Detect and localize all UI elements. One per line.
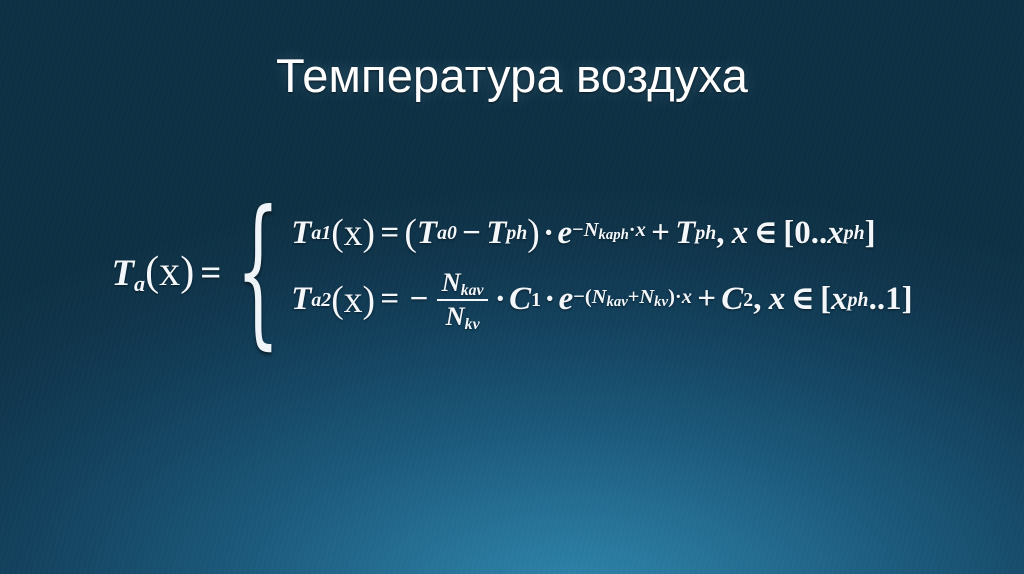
case2-negative: − bbox=[404, 281, 433, 318]
case1-exp-dot: · bbox=[629, 219, 636, 241]
case2-exp-N1: N bbox=[592, 286, 607, 308]
case2-frac-den-symbol: N bbox=[446, 301, 465, 331]
case2-e: e bbox=[559, 281, 574, 318]
case2-exp-x: x bbox=[682, 286, 692, 308]
case1-interval-dots: .. bbox=[811, 215, 828, 252]
case2-exponent: −(Nkav+Nkv)·x bbox=[573, 297, 692, 302]
lhs-subscript: a bbox=[134, 271, 145, 296]
case1-interval-high: x bbox=[827, 215, 844, 252]
case2-constant2: C bbox=[721, 281, 743, 318]
case1-equals: = bbox=[375, 215, 404, 252]
lhs-argument: (x) bbox=[145, 248, 194, 295]
case1-comma: , bbox=[716, 215, 724, 252]
case2-interval-close: ] bbox=[902, 281, 913, 318]
case1-interval-low: 0 bbox=[794, 215, 811, 252]
cases-list: Ta1(x)=(Ta0−Tph)·e−Nkaph·x+Tph,x∈[0..xph… bbox=[291, 212, 912, 331]
case1-exp-x: x bbox=[636, 219, 646, 241]
case1-term3: T bbox=[675, 215, 695, 252]
case2-in-symbol: ∈ bbox=[785, 281, 820, 318]
lhs-function: T bbox=[111, 253, 134, 294]
case-air-before-phase-change: Ta1(x)=(Ta0−Tph)·e−Nkaph·x+Tph,x∈[0..xph… bbox=[291, 212, 912, 254]
case1-exp-N: N bbox=[584, 219, 599, 241]
case2-exp-close: ) bbox=[668, 286, 675, 308]
case1-plus: + bbox=[646, 215, 675, 252]
case2-exp-dot: · bbox=[675, 286, 682, 308]
case2-interval-open: [ bbox=[820, 281, 831, 318]
case2-argument: (x) bbox=[331, 279, 375, 321]
case2-fraction: NkavNkv bbox=[437, 268, 488, 331]
case2-frac-num-symbol: N bbox=[442, 267, 461, 297]
case2-interval-high: 1 bbox=[885, 281, 902, 318]
case1-exponent: −Nkaph·x bbox=[572, 230, 646, 235]
case2-dot1: · bbox=[491, 281, 509, 318]
case2-exp-N2-sub: kv bbox=[654, 294, 668, 310]
case1-exp-minus: − bbox=[572, 219, 584, 241]
case1-exp-N-sub: kaph bbox=[599, 228, 629, 244]
case2-plus: + bbox=[692, 281, 721, 318]
case-air-after-phase-change: Ta2(x)=−NkavNkv·C1·e−(Nkav+Nkv)·x+C2,x∈[… bbox=[291, 264, 912, 331]
case2-variable: x bbox=[761, 281, 785, 318]
case2-dot2: · bbox=[541, 281, 559, 318]
case2-comma: , bbox=[753, 281, 761, 318]
case1-in-symbol: ∈ bbox=[748, 215, 783, 252]
case2-constant1: C bbox=[509, 281, 531, 318]
case1-interval-close: ] bbox=[865, 215, 876, 252]
case2-exp-plus: + bbox=[628, 286, 640, 308]
slide-canvas: Температура воздуха Ta(x)= { Ta1(x)=(Ta0… bbox=[0, 0, 1024, 574]
case2-exp-minus: − bbox=[573, 286, 585, 308]
case2-frac-num-sub: kav bbox=[461, 282, 484, 299]
case1-argument: (x) bbox=[331, 212, 375, 254]
formula-lhs: Ta(x)= bbox=[111, 247, 231, 296]
case2-exp-open: ( bbox=[585, 286, 592, 308]
case2-fraction-denominator: Nkv bbox=[441, 301, 485, 332]
case1-close-paren: ) bbox=[527, 212, 540, 254]
case2-fraction-numerator: Nkav bbox=[437, 268, 488, 299]
case1-interval-open: [ bbox=[783, 215, 794, 252]
case1-term1: T bbox=[417, 215, 437, 252]
slide-title: Температура воздуха bbox=[0, 48, 1024, 103]
case1-dot: · bbox=[540, 215, 558, 252]
case1-term2: T bbox=[486, 215, 506, 252]
case2-interval-dots: .. bbox=[869, 281, 886, 318]
case1-e: e bbox=[557, 215, 572, 252]
case2-equals: = bbox=[375, 281, 404, 318]
case1-open-paren: ( bbox=[404, 212, 417, 254]
case2-interval-low: x bbox=[831, 281, 848, 318]
formula-block: Ta(x)= { Ta1(x)=(Ta0−Tph)·e−Nkaph·x+Tph,… bbox=[0, 212, 1024, 331]
case2-function: T bbox=[291, 281, 311, 318]
case2-frac-den-sub: kv bbox=[465, 316, 480, 333]
case2-exp-N2: N bbox=[639, 286, 654, 308]
case1-function: T bbox=[291, 215, 311, 252]
case1-variable: x bbox=[725, 215, 749, 252]
case1-minus: − bbox=[457, 215, 486, 252]
case2-exp-N1-sub: kav bbox=[606, 294, 627, 310]
lhs-equals: = bbox=[194, 253, 227, 294]
